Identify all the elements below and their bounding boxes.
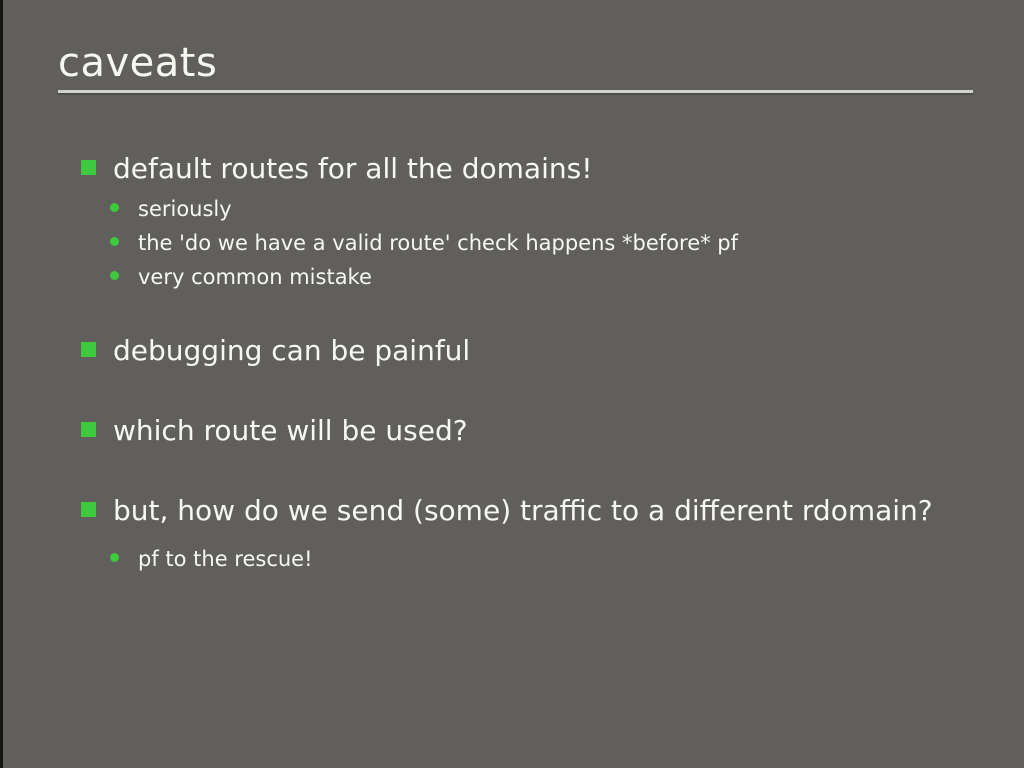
slide-canvas: caveats default routes for all the domai… <box>0 0 1024 768</box>
bullet-level2: the 'do we have a valid route' check hap… <box>81 226 961 260</box>
square-bullet-icon <box>81 342 96 357</box>
bullet-level1-label: but, how do we send (some) traffic to a … <box>113 494 933 527</box>
outline-spacer <box>81 374 961 410</box>
square-bullet-icon <box>81 160 96 175</box>
page-title: caveats <box>58 40 973 86</box>
slide-body-outline: default routes for all the domains! seri… <box>81 148 961 576</box>
bullet-level2-label: the 'do we have a valid route' check hap… <box>138 231 738 255</box>
bullet-level2-label: seriously <box>138 197 232 221</box>
bullet-level2-label: very common mistake <box>138 265 372 289</box>
dot-bullet-icon <box>110 237 119 246</box>
bullet-level1: but, how do we send (some) traffic to a … <box>81 490 961 532</box>
square-bullet-icon <box>81 502 96 517</box>
outline-spacer <box>81 534 961 542</box>
bullet-level1: default routes for all the domains! <box>81 148 961 190</box>
outline-group: debugging can be painful <box>81 330 961 372</box>
outline-group: default routes for all the domains! seri… <box>81 148 961 294</box>
outline-group: but, how do we send (some) traffic to a … <box>81 490 961 576</box>
bullet-level1: which route will be used? <box>81 410 961 452</box>
bullet-level1-label: debugging can be painful <box>113 334 470 367</box>
bullet-level2: seriously <box>81 192 961 226</box>
outline-spacer <box>81 454 961 490</box>
square-bullet-icon <box>81 422 96 437</box>
bullet-level1-label: default routes for all the domains! <box>113 152 592 185</box>
bullet-level2: very common mistake <box>81 260 961 294</box>
dot-bullet-icon <box>110 271 119 280</box>
outline-group: which route will be used? <box>81 410 961 452</box>
bullet-level2: pf to the rescue! <box>81 542 961 576</box>
bullet-level2-label: pf to the rescue! <box>138 547 313 571</box>
dot-bullet-icon <box>110 203 119 212</box>
title-underline-rule <box>58 90 973 93</box>
slide-title-block: caveats <box>58 40 973 93</box>
bullet-level1: debugging can be painful <box>81 330 961 372</box>
bullet-level1-label: which route will be used? <box>113 414 468 447</box>
dot-bullet-icon <box>110 553 119 562</box>
outline-spacer <box>81 294 961 330</box>
